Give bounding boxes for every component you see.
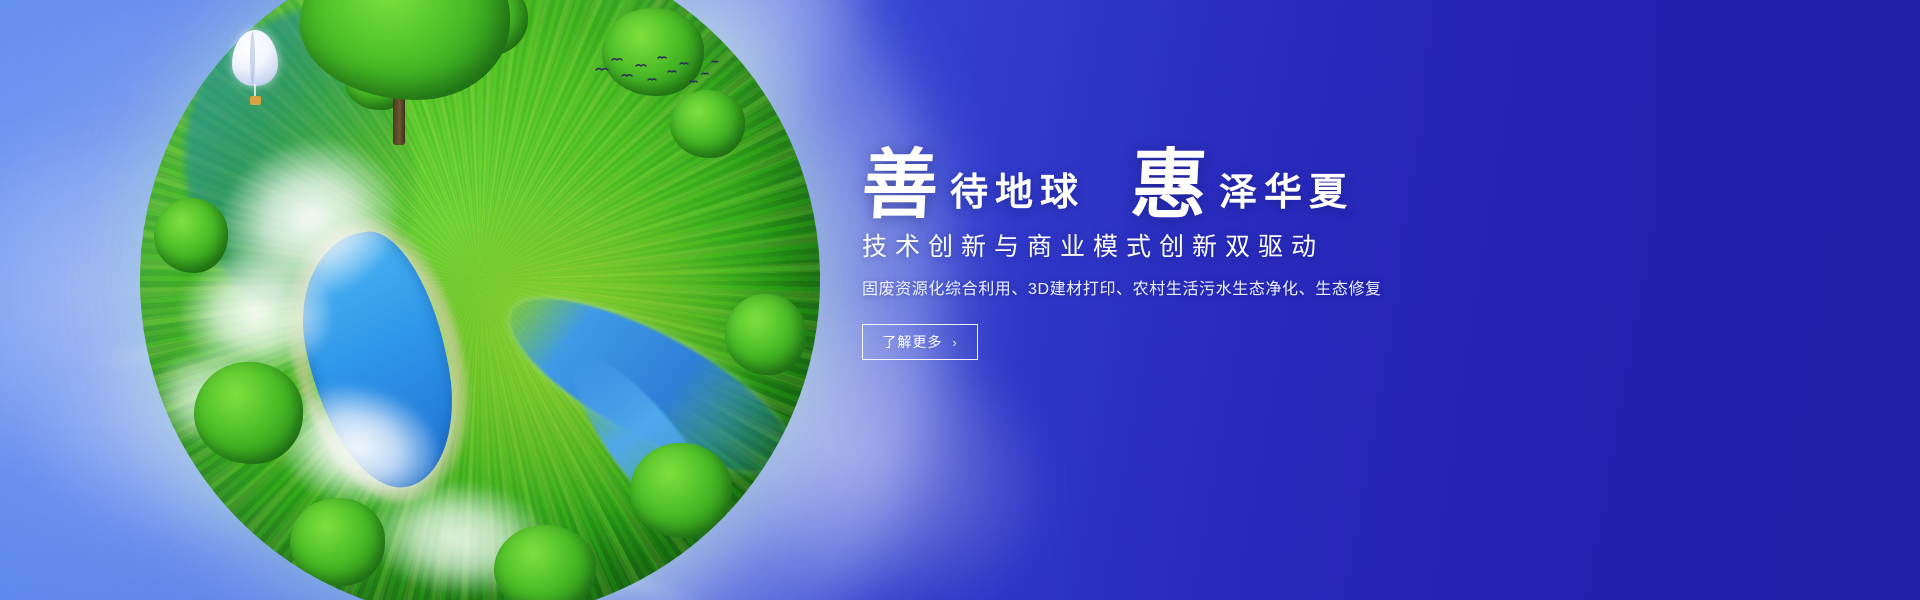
tree-icon [194,362,303,464]
tree-icon [725,294,807,376]
page-title: 善 待地球 惠 泽华夏 [862,126,1862,222]
tree-canopy [300,0,510,100]
hero-copy: 善 待地球 惠 泽华夏 技术创新与商业模式创新双驱动 固废资源化综合利用、3D建… [862,126,1862,360]
headline-rest-chars-2: 泽华夏 [1219,174,1354,222]
bird-flock-icon [592,50,722,96]
headline-lead-char-1: 善 [860,151,940,222]
learn-more-label: 了解更多 [882,332,942,352]
hero-description: 固废资源化综合利用、3D建材打印、农村生活污水生态净化、生态修复 [862,278,1862,302]
chevron-right-icon: › [952,336,957,349]
balloon-basket [250,96,261,105]
balloon-stripe [250,32,255,84]
tree-icon [494,525,596,600]
tree-icon [630,443,732,538]
hero-tree-icon [300,0,510,100]
headline-phrase-1: 善 待地球 [862,151,1085,222]
learn-more-button[interactable]: 了解更多 › [862,324,978,360]
hero-subtitle: 技术创新与商业模式创新双驱动 [862,232,1862,262]
tree-icon [670,90,745,158]
headline-phrase-2: 惠 泽华夏 [1131,151,1354,222]
tree-icon [154,198,229,273]
headline-rest-chars-1: 待地球 [950,174,1085,222]
balloon-envelope [232,30,278,86]
hero-banner: 善 待地球 惠 泽华夏 技术创新与商业模式创新双驱动 固废资源化综合利用、3D建… [0,0,1920,600]
tree-icon [290,498,385,586]
headline-lead-char-2: 惠 [1129,151,1209,222]
hot-air-balloon-icon [232,30,278,114]
